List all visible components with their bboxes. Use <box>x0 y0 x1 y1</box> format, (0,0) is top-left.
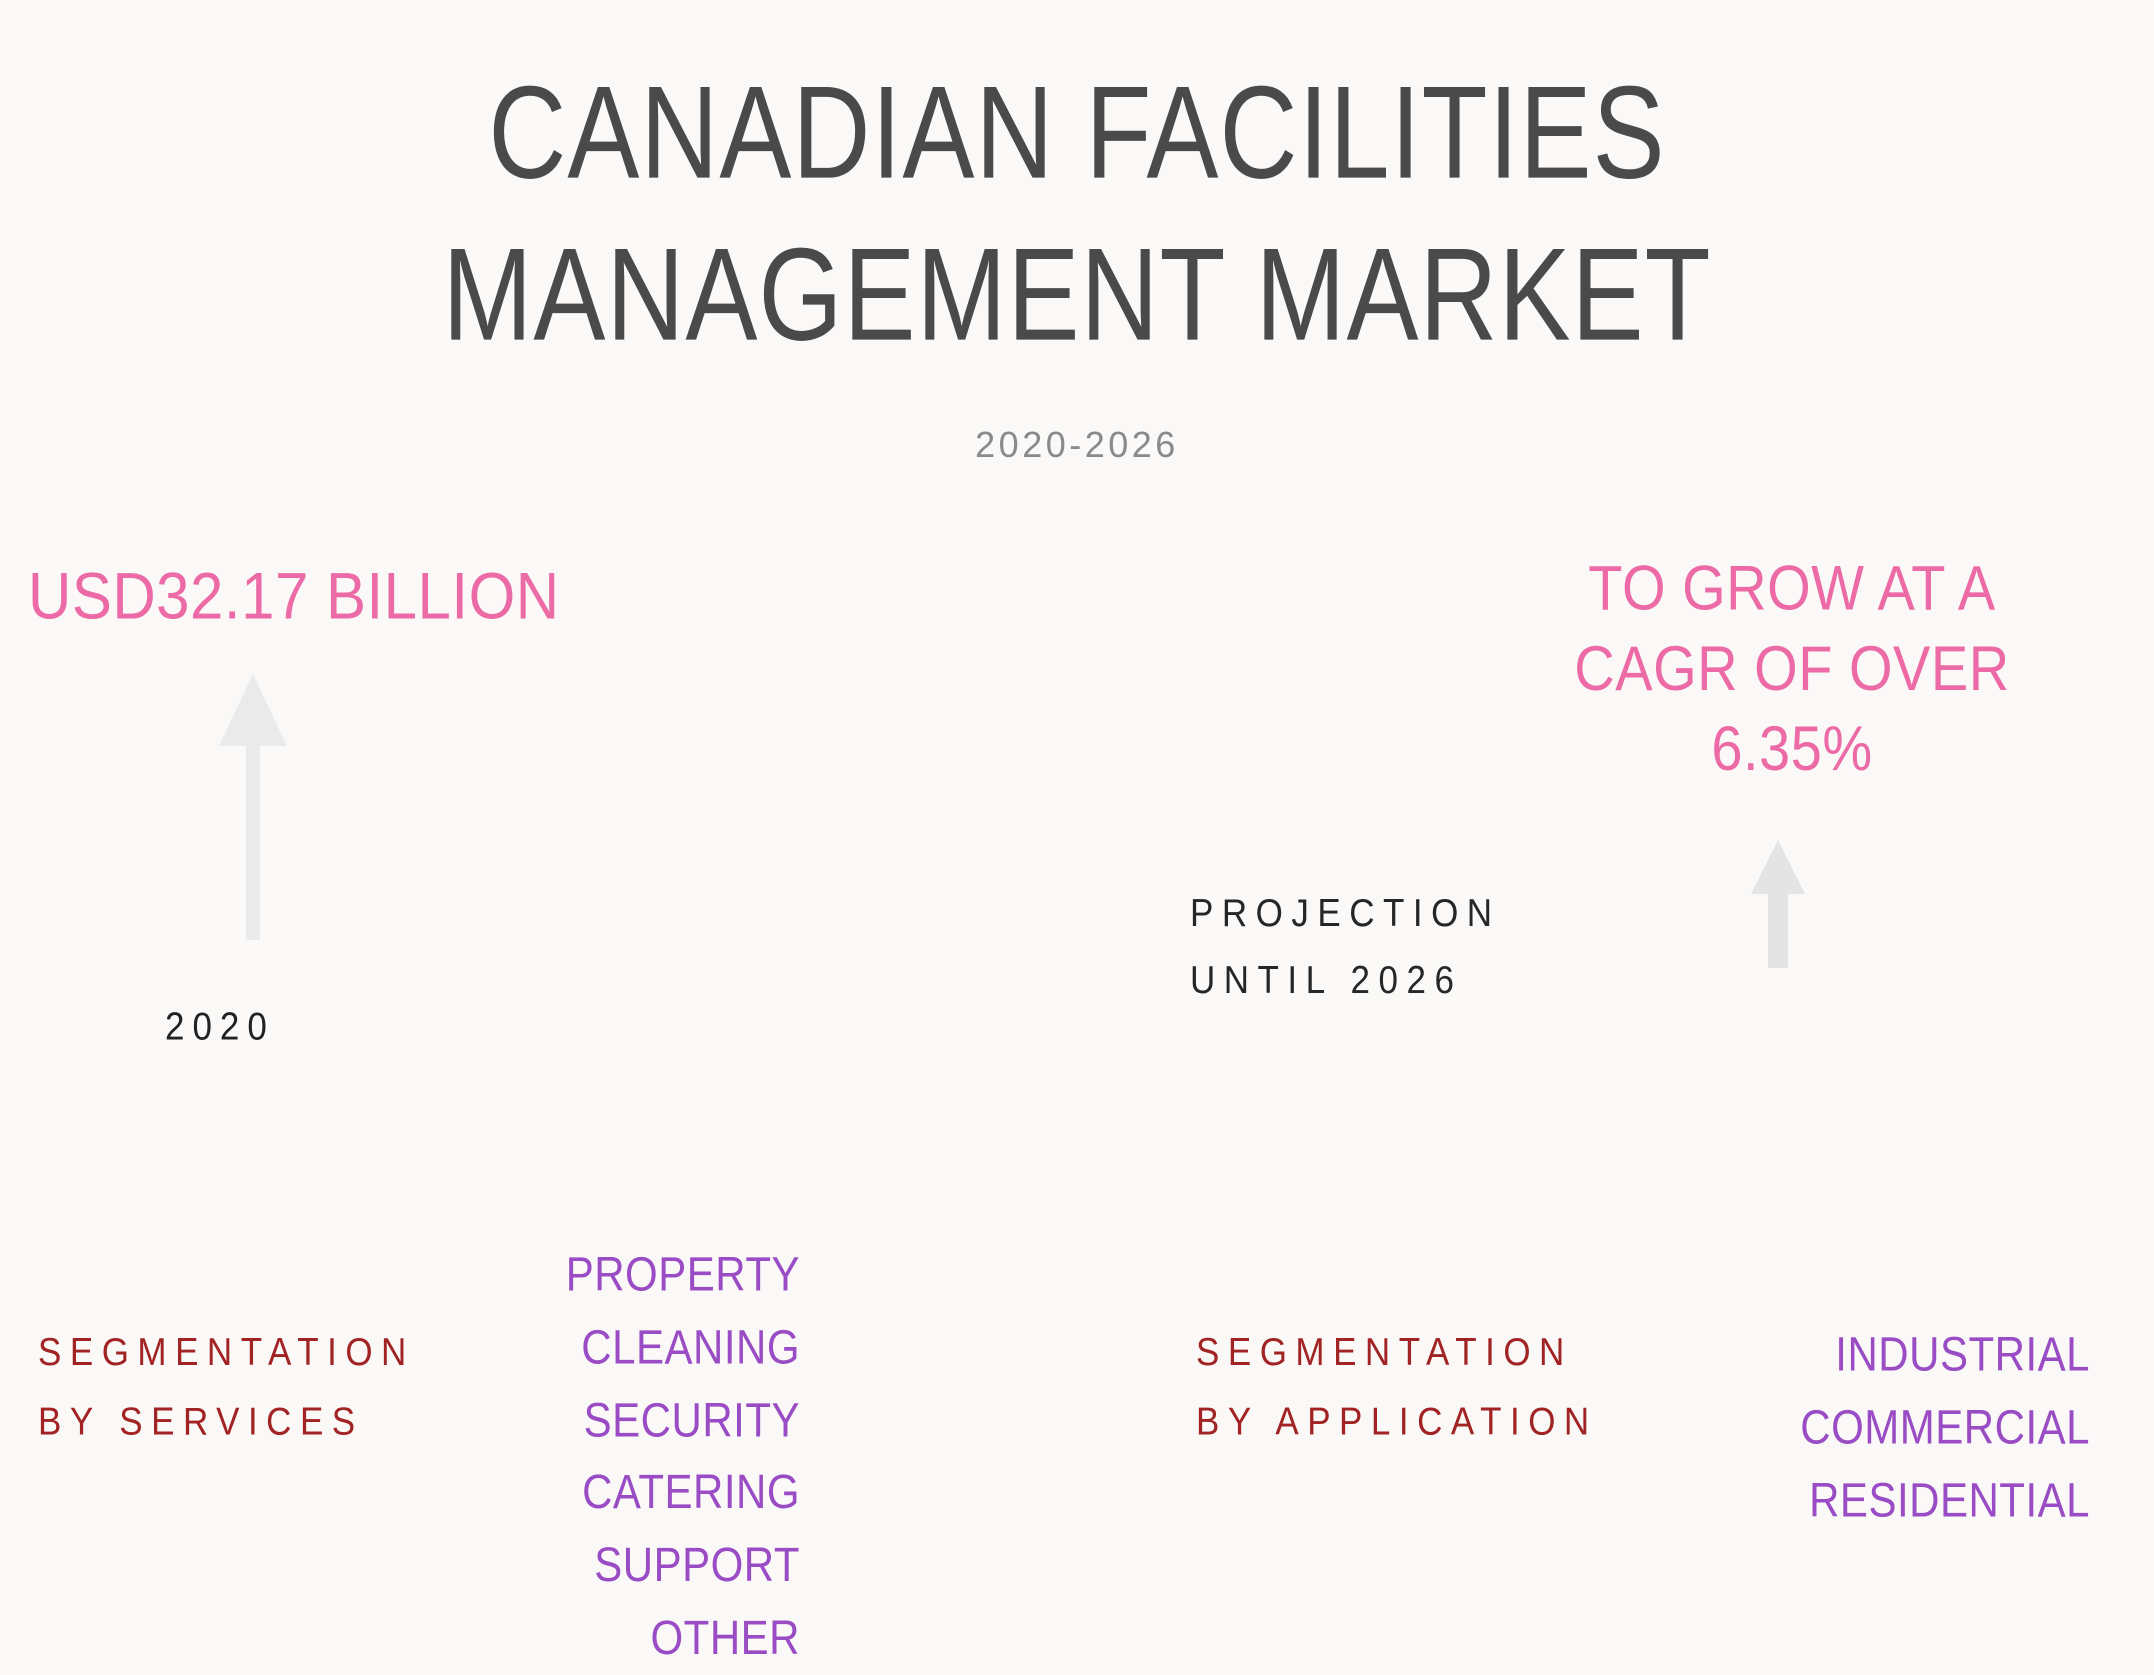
projection-label: PROJECTION UNTIL 2026 <box>1190 880 1501 1015</box>
list-item: SECURITY <box>240 1384 800 1457</box>
projection-label-line-1: PROJECTION <box>1190 880 1501 947</box>
base-year-label: 2020 <box>165 1005 275 1050</box>
list-item: CATERING <box>240 1456 800 1529</box>
base-market-value: USD32.17 BILLION <box>28 558 560 634</box>
projection-label-line-2: UNTIL 2026 <box>1190 947 1501 1014</box>
list-item: PROPERTY <box>240 1238 800 1311</box>
cagr-line-3: 6.35% <box>1522 709 2062 789</box>
cagr-growth-statement: TO GROW AT A CAGR OF OVER 6.35% <box>1522 548 2062 789</box>
header-block: CANADIAN FACILITIES MANAGEMENT MARKET 20… <box>0 52 2154 466</box>
page-title-line-1: CANADIAN FACILITIES <box>0 52 2154 213</box>
growth-arrow-2020 <box>218 672 288 940</box>
services-list: PROPERTY CLEANING SECURITY CATERING SUPP… <box>240 1238 800 1675</box>
cagr-line-2: CAGR OF OVER <box>1522 628 2062 708</box>
list-item: CLEANING <box>240 1311 800 1384</box>
list-item: RESIDENTIAL <box>1420 1464 2090 1537</box>
application-list: INDUSTRIAL COMMERCIAL RESIDENTIAL <box>1420 1318 2090 1536</box>
cagr-line-1: TO GROW AT A <box>1522 548 2062 628</box>
list-item: OTHER <box>240 1602 800 1675</box>
list-item: SUPPORT <box>240 1529 800 1602</box>
list-item: INDUSTRIAL <box>1420 1318 2090 1391</box>
page-subtitle: 2020-2026 <box>0 424 2154 466</box>
page-title-line-2: MANAGEMENT MARKET <box>0 214 2154 375</box>
up-arrow-icon <box>218 672 288 940</box>
infographic-canvas: CANADIAN FACILITIES MANAGEMENT MARKET 20… <box>0 0 2154 1668</box>
list-item: COMMERCIAL <box>1420 1391 2090 1464</box>
growth-arrow-2026 <box>1750 838 1806 968</box>
up-arrow-icon <box>1750 838 1806 968</box>
